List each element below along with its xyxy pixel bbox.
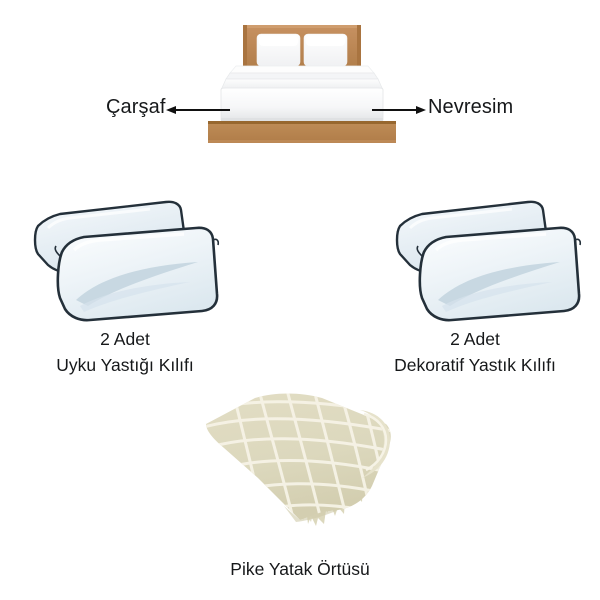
item-caption-decorative-pillow: 2 Adet Dekoratif Yastık Kılıfı	[350, 326, 600, 378]
item-name-bedspread: Pike Yatak Örtüsü	[150, 556, 450, 582]
annotation-arrow-left	[166, 106, 230, 114]
pillow-pair-icon-right	[397, 202, 580, 320]
item-caption-sleep-pillow: 2 Adet Uyku Yastığı Kılıfı	[0, 326, 250, 378]
bed-mattress-layers	[221, 66, 383, 122]
diagram-canvas: Çarşaf Nevresim 2 Adet Uyku Yastığı Kılı…	[0, 0, 600, 600]
bedding-set-diagram-svg	[0, 0, 600, 600]
pillow-pair-icon-left	[35, 202, 218, 320]
annotation-label-carsaf: Çarşaf	[106, 96, 166, 119]
annotation-label-nevresim: Nevresim	[428, 96, 513, 119]
item-caption-bedspread: Pike Yatak Örtüsü	[150, 556, 450, 582]
folded-blanket-icon	[198, 386, 398, 526]
bed-base	[208, 121, 396, 143]
item-name-decorative-pillow: Dekoratif Yastık Kılıfı	[350, 352, 600, 378]
item-count-sleep-pillow: 2 Adet	[0, 326, 250, 352]
item-name-sleep-pillow: Uyku Yastığı Kılıfı	[0, 352, 250, 378]
bed-illustration	[208, 25, 396, 143]
item-count-decorative-pillow: 2 Adet	[350, 326, 600, 352]
